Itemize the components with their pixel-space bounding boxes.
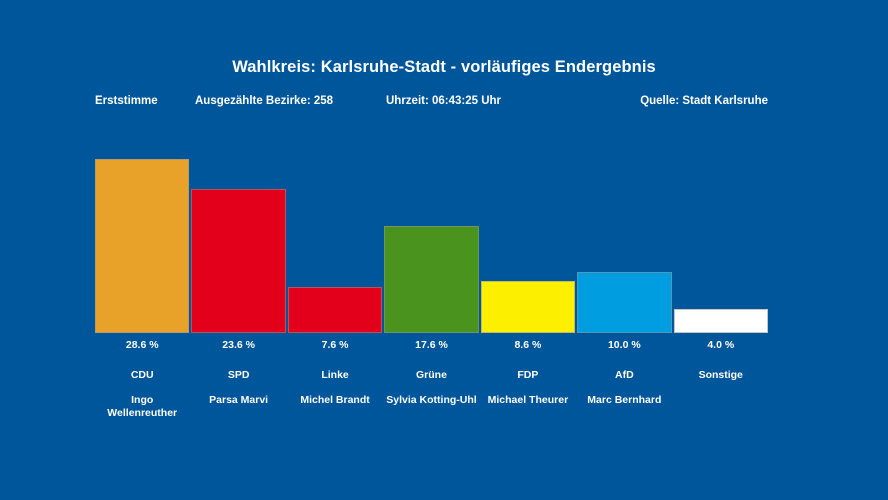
percentage-label: 10.0 %	[577, 334, 671, 351]
percentage-label: 7.6 %	[288, 334, 382, 351]
candidate-label: Sylvia Kotting-Uhl	[384, 381, 478, 407]
bar-cdu[interactable]	[95, 159, 189, 333]
meta-header-row: Erststimme Ausgezählte Bezirke: 258 Uhrz…	[95, 95, 768, 111]
party-label: AfD	[577, 351, 671, 381]
percentage-label: 8.6 %	[481, 334, 575, 351]
candidate-label: Ingo Wellenreuther	[95, 381, 189, 420]
bar-slot	[191, 150, 285, 333]
bar-linke[interactable]	[288, 287, 382, 333]
party-label: Sonstige	[674, 351, 768, 381]
bar-slot	[674, 150, 768, 333]
party-label: Grüne	[384, 351, 478, 381]
percentage-label: 4.0 %	[674, 334, 768, 351]
source-label: Quelle: Stadt Karlsruhe	[640, 95, 768, 107]
bar-spd[interactable]	[191, 189, 285, 333]
candidate-label: Marc Bernhard	[577, 381, 671, 407]
party-label: SPD	[191, 351, 285, 381]
bar-slot	[481, 150, 575, 333]
timestamp-label: Uhrzeit: 06:43:25 Uhr	[386, 95, 501, 107]
election-results-board: Wahlkreis: Karlsruhe-Stadt - vorläufiges…	[0, 0, 888, 500]
label-slot: 23.6 %SPDParsa Marvi	[191, 334, 285, 420]
bar-fdp[interactable]	[481, 281, 575, 333]
candidate-label	[674, 381, 768, 394]
label-slot: 7.6 %LinkeMichel Brandt	[288, 334, 382, 420]
label-slot: 8.6 %FDPMichael Theurer	[481, 334, 575, 420]
label-slot: 10.0 %AfDMarc Bernhard	[577, 334, 671, 420]
bar-slot	[288, 150, 382, 333]
bar-slot	[577, 150, 671, 333]
label-slot: 17.6 %GrüneSylvia Kotting-Uhl	[384, 334, 478, 420]
candidate-label: Michael Theurer	[481, 381, 575, 407]
bar-labels-row: 28.6 %CDUIngo Wellenreuther23.6 %SPDPars…	[95, 334, 768, 420]
page-title: Wahlkreis: Karlsruhe-Stadt - vorläufiges…	[0, 58, 888, 77]
party-label: FDP	[481, 351, 575, 381]
percentage-label: 17.6 %	[384, 334, 478, 351]
percentage-label: 23.6 %	[191, 334, 285, 351]
chart-plot-area	[95, 150, 768, 333]
candidate-label: Michel Brandt	[288, 381, 382, 407]
bar-series	[95, 150, 768, 333]
label-slot: 28.6 %CDUIngo Wellenreuther	[95, 334, 189, 420]
bar-slot	[95, 150, 189, 333]
bar-sonstige[interactable]	[674, 309, 768, 333]
percentage-label: 28.6 %	[95, 334, 189, 351]
bar-afd[interactable]	[577, 272, 671, 333]
label-slot: 4.0 %Sonstige	[674, 334, 768, 420]
districts-counted-label: Ausgezählte Bezirke: 258	[195, 95, 333, 107]
bar-grüne[interactable]	[384, 226, 478, 333]
vote-type-label: Erststimme	[95, 95, 158, 107]
bar-slot	[384, 150, 478, 333]
candidate-label: Parsa Marvi	[191, 381, 285, 407]
party-label: CDU	[95, 351, 189, 381]
party-label: Linke	[288, 351, 382, 381]
